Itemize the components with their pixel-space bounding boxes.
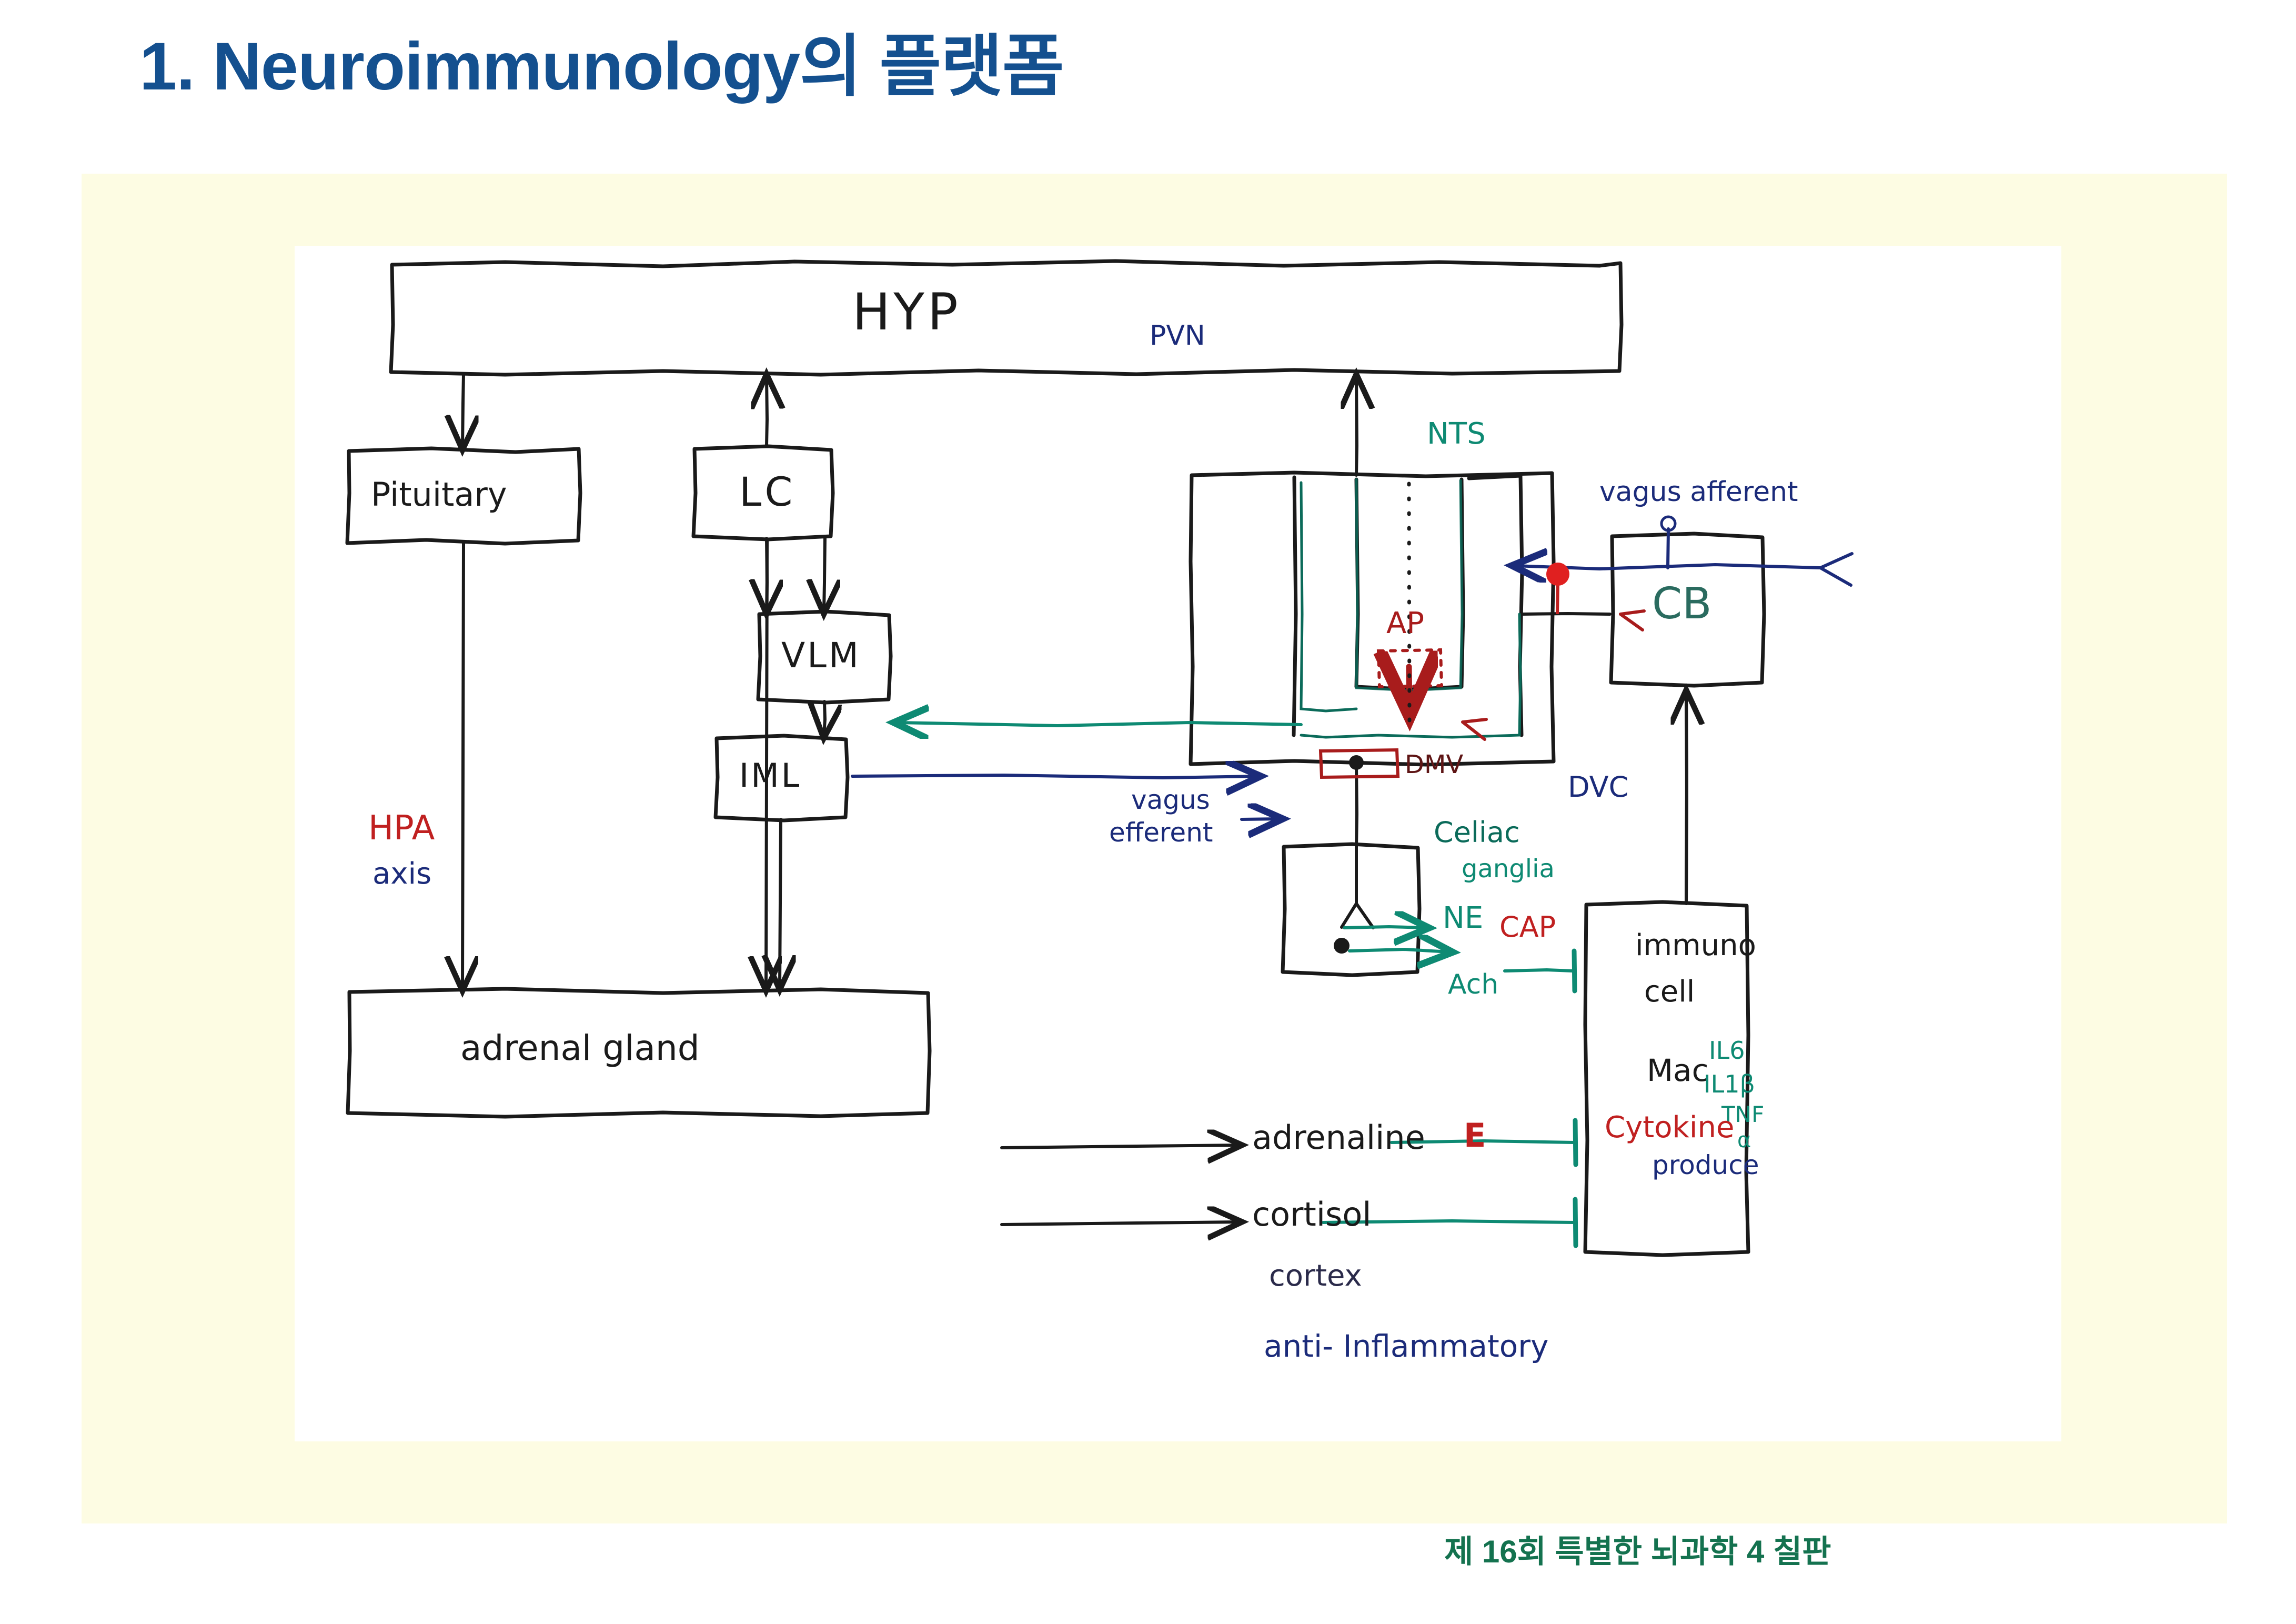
neuron-soma-celiac — [1334, 938, 1350, 954]
page-title: 1. Neuroimmunology의 플랫폼 — [139, 12, 1064, 109]
red-pin-marker — [1546, 563, 1569, 614]
slide-root: 1. Neuroimmunology의 플랫폼 — [0, 0, 2296, 1624]
neuron-soma-dmv — [1349, 755, 1364, 770]
diagram-canvas: HYP PVN Pituitary LC VLM IML HPA axis NT… — [295, 246, 2061, 1441]
diagram-svg — [295, 246, 2061, 1441]
footer-caption: 제 16회 특별한 뇌과학 4 칠판 — [1444, 1526, 1831, 1572]
